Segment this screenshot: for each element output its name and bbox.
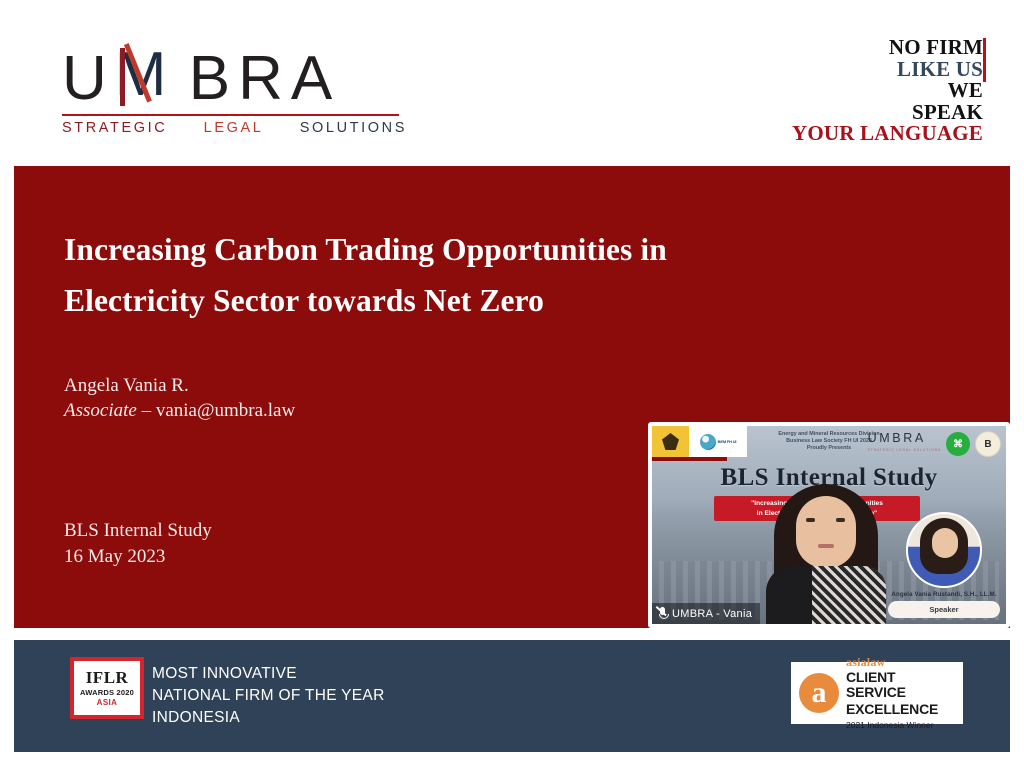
event-block: BLS Internal Study 16 May 2023 bbox=[64, 518, 212, 569]
logo-m-red-stem-icon bbox=[120, 48, 125, 106]
logo-tagline: STRATEGIC LEGAL SOLUTIONS bbox=[62, 120, 407, 136]
speaker-portrait-avatar bbox=[906, 512, 982, 588]
video-thumbnail[interactable]: BEM FH UI Energy and Mineral Resources D… bbox=[648, 422, 1010, 628]
video-umbra-sub: STRATEGIC LEGAL SOLUTIONS bbox=[868, 444, 941, 456]
page-header: U M B R A STRATEGIC LEGAL SOLUTIONS NO F… bbox=[0, 0, 1024, 166]
event-date: 16 May 2023 bbox=[64, 544, 212, 570]
speaker-batik-scarf bbox=[812, 566, 886, 624]
umbra-logo: U M B R A bbox=[62, 44, 402, 110]
logo-tagline-solutions: SOLUTIONS bbox=[300, 120, 407, 136]
page-title-line-2: Electricity Sector towards Net Zero bbox=[64, 275, 824, 326]
logo-letter-a: A bbox=[291, 48, 340, 110]
video-logo-strip-underline bbox=[652, 457, 727, 461]
logo-letter-m: M bbox=[115, 44, 189, 110]
video-speaker-webcam bbox=[760, 474, 892, 624]
video-green-badge-icon: ⌘ bbox=[946, 432, 970, 456]
award-line-2: NATIONAL FIRM OF THE YEAR bbox=[152, 685, 385, 707]
logo-letter-r: R bbox=[238, 48, 291, 110]
universitas-indonesia-logo bbox=[652, 426, 689, 457]
page-title-line-1: Increasing Carbon Trading Opportunities … bbox=[64, 224, 824, 275]
video-thumbnail-inner: BEM FH UI Energy and Mineral Resources D… bbox=[652, 426, 1006, 624]
presenter-contact: Associate – vania@umbra.law bbox=[64, 398, 295, 423]
event-name: BLS Internal Study bbox=[64, 518, 212, 544]
speaker-role-pill: Speaker bbox=[888, 601, 1000, 618]
tagline-accent-bar bbox=[983, 38, 986, 82]
award-description: MOST INNOVATIVE NATIONAL FIRM OF THE YEA… bbox=[152, 663, 385, 729]
asialaw-line-1: CLIENT SERVICE bbox=[846, 670, 955, 700]
globe-icon bbox=[700, 434, 716, 450]
tagline-line-5: YOUR LANGUAGE bbox=[792, 123, 983, 145]
microphone-muted-icon bbox=[658, 607, 667, 620]
presenter-separator: – bbox=[137, 400, 156, 421]
speaker-eye-right bbox=[836, 518, 845, 522]
asialaw-brand: asialaw bbox=[846, 656, 955, 668]
presenter-role: Associate bbox=[64, 400, 137, 421]
tagline-line-2: LIKE US bbox=[792, 59, 983, 81]
speaker-full-name: Angela Vania Rustandi, S.H., LL.M. bbox=[888, 591, 1000, 598]
presenter-block: Angela Vania R. Associate – vania@umbra.… bbox=[64, 373, 295, 423]
tagline-line-4: SPEAK bbox=[792, 102, 983, 124]
tagline-line-1: NO FIRM bbox=[792, 37, 983, 59]
asialaw-line-3: 2021 Indonesia Winner bbox=[846, 721, 955, 730]
umbra-wordmark: U M B R A bbox=[62, 44, 402, 110]
video-umbra-logo: UMBRASTRATEGIC LEGAL SOLUTIONS bbox=[868, 432, 941, 456]
video-partner-logo-strip: BEM FH UI bbox=[652, 426, 747, 457]
iflr-award-badge: IFLR AWARDS 2020 ASIA bbox=[70, 657, 144, 719]
presenter-name: Angela Vania R. bbox=[64, 373, 295, 398]
logo-letter-u: U bbox=[62, 48, 115, 110]
makara-icon bbox=[662, 433, 679, 450]
page-title: Increasing Carbon Trading Opportunities … bbox=[64, 224, 824, 326]
speaker-eye-left bbox=[806, 518, 815, 522]
award-line-1: MOST INNOVATIVE bbox=[152, 663, 385, 685]
video-right-logos: UMBRASTRATEGIC LEGAL SOLUTIONS ⌘ B bbox=[868, 431, 1001, 457]
video-speaker-card: Angela Vania Rustandi, S.H., LL.M. Speak… bbox=[888, 512, 1000, 618]
presenter-email: vania@umbra.law bbox=[156, 400, 295, 421]
logo-divider-rule bbox=[62, 114, 399, 116]
logo-letter-b: B bbox=[189, 48, 238, 110]
asialaw-text-block: asialaw CLIENT SERVICE EXCELLENCE 2021 I… bbox=[846, 656, 955, 730]
asialaw-line-2: EXCELLENCE bbox=[846, 702, 955, 717]
asialaw-award-badge: a asialaw CLIENT SERVICE EXCELLENCE 2021… bbox=[791, 662, 963, 724]
speaker-mouth bbox=[818, 544, 834, 548]
tagline-line-3: WE bbox=[792, 80, 983, 102]
iflr-region: ASIA bbox=[97, 699, 118, 707]
firm-tagline: NO FIRM LIKE US WE SPEAK YOUR LANGUAGE bbox=[792, 37, 983, 145]
speaker-face bbox=[796, 496, 856, 568]
logo-tagline-strategic: STRATEGIC bbox=[62, 120, 167, 136]
logo-tagline-legal: LEGAL bbox=[204, 120, 264, 136]
bem-logo-text: BEM FH UI bbox=[718, 439, 737, 444]
bem-fh-ui-logo: BEM FH UI bbox=[689, 426, 747, 457]
iflr-title: IFLR bbox=[86, 669, 129, 686]
video-umbra-mark: UMBRA bbox=[868, 431, 926, 445]
avatar-face bbox=[932, 528, 958, 558]
asialaw-logo-icon: a bbox=[799, 673, 839, 713]
video-cream-badge-icon: B bbox=[975, 431, 1001, 457]
video-participant-namebar: UMBRA - Vania bbox=[652, 603, 760, 624]
award-line-3: INDONESIA bbox=[152, 707, 385, 729]
iflr-awards-year: AWARDS 2020 bbox=[80, 689, 134, 697]
bem-logo-group: BEM FH UI bbox=[700, 434, 737, 450]
video-participant-name: UMBRA - Vania bbox=[672, 608, 752, 620]
